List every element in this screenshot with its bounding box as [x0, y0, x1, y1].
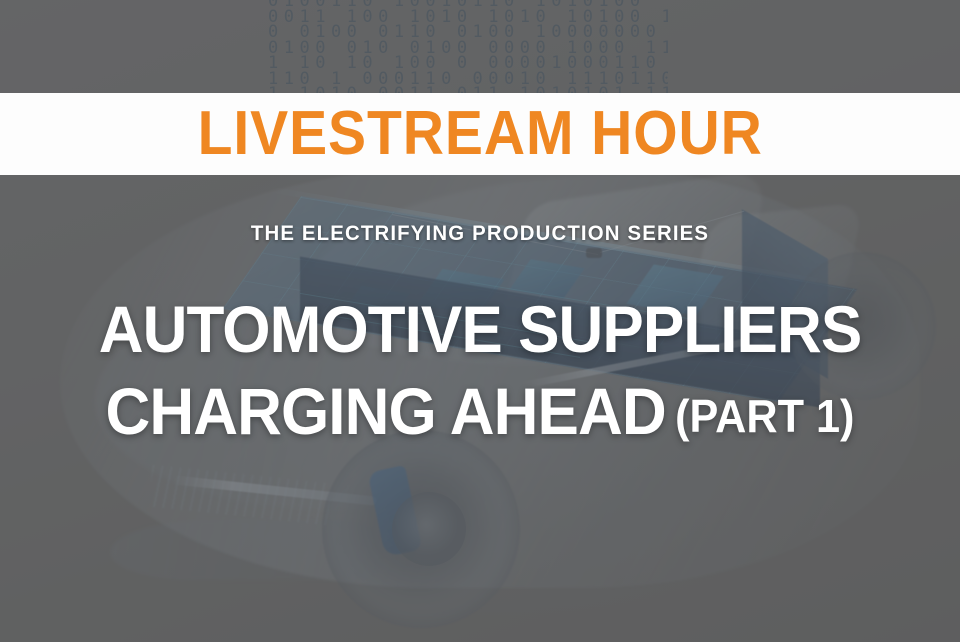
headline-line-2: CHARGING AHEAD(PART 1) [29, 378, 931, 444]
band-title: LIVESTREAM HOUR [197, 103, 762, 165]
headline-line-1: AUTOMOTIVE SUPPLIERS [29, 296, 931, 362]
headline-part-suffix: (PART 1) [675, 390, 854, 442]
headline-line-2-main: CHARGING AHEAD [106, 374, 666, 448]
banner-graphic: 0100110 10010110 1010100 0011 100 1010 1… [0, 0, 960, 642]
series-subtitle: THE ELECTRIFYING PRODUCTION SERIES [14, 222, 945, 246]
livestream-band: LIVESTREAM HOUR [0, 93, 960, 175]
